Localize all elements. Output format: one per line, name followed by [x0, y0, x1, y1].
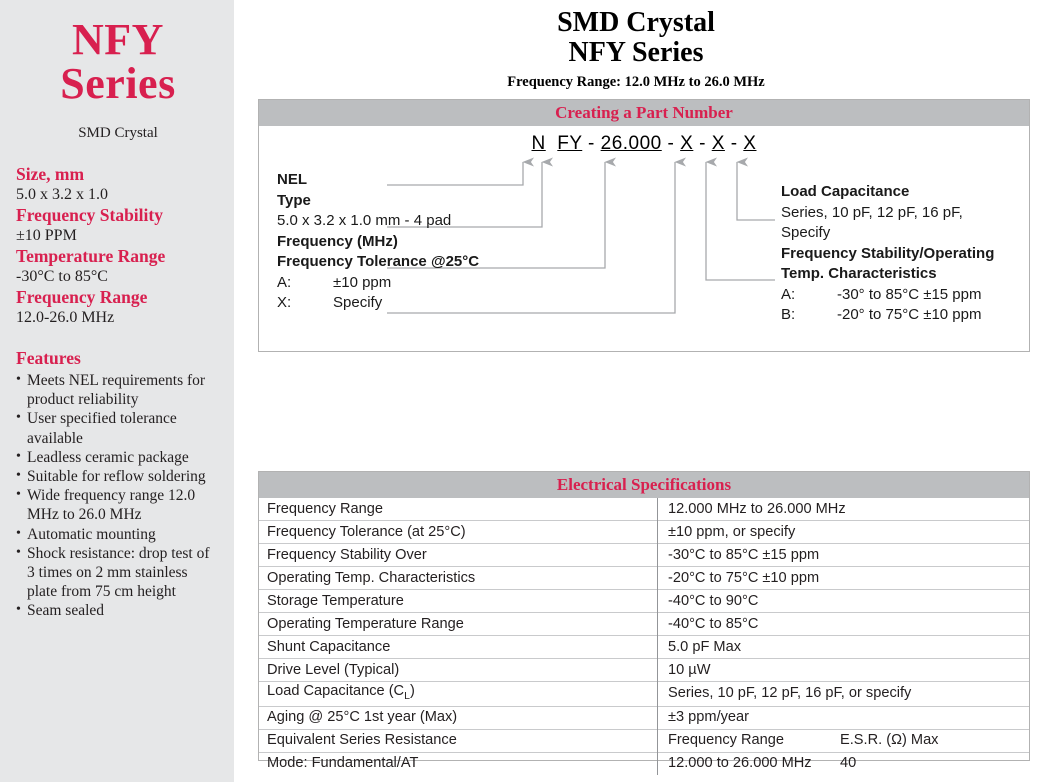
- table-row: Mode: Fundamental/AT 12.000 to 26.000 MH…: [259, 752, 1029, 775]
- spec-value-frequency-stability: ±10 PPM: [16, 226, 220, 246]
- pn-tolerance-x-value: Specify: [333, 294, 382, 311]
- spec-value: 5.0 pF Max: [658, 636, 1030, 659]
- features-list: Meets NEL requirements for product relia…: [16, 371, 220, 621]
- spec-value: Frequency RangeE.S.R. (Ω) Max: [658, 729, 1030, 752]
- pn-dash-4: -: [731, 133, 738, 154]
- leader-load-capacitance: [737, 162, 775, 220]
- list-item: Leadless ceramic package: [16, 448, 220, 467]
- pn-label-stability-1: Frequency Stability/Operating: [781, 244, 1031, 265]
- pn-tolerance-option-a: A:±10 ppm: [277, 273, 607, 294]
- spec-value: -20°C to 75°C ±10 ppm: [658, 567, 1030, 590]
- part-number-left-labels: NEL Type 5.0 x 3.2 x 1.0 mm - 4 pad Freq…: [277, 170, 607, 314]
- table-row: Aging @ 25°C 1st year (Max) ±3 ppm/year: [259, 706, 1029, 729]
- pn-dash-2: -: [668, 133, 675, 154]
- pn-segment-load-cap: X: [743, 133, 756, 154]
- esr-range-b: 40: [840, 755, 856, 771]
- part-number-right-labels: Load Capacitance Series, 10 pF, 12 pF, 1…: [781, 182, 1031, 326]
- pn-tolerance-a-value: ±10 ppm: [333, 274, 391, 291]
- spec-value: 12.000 MHz to 26.000 MHz: [658, 498, 1030, 521]
- spec-param: Frequency Range: [259, 498, 658, 521]
- table-row: Load Capacitance (CL) Series, 10 pF, 12 …: [259, 682, 1029, 707]
- main-content: SMD Crystal NFY Series Frequency Range: …: [234, 0, 1038, 782]
- spec-head-size: Size, mm: [16, 164, 220, 185]
- table-row: Frequency Stability Over -30°C to 85°C ±…: [259, 544, 1029, 567]
- series-title: NFY Series: [16, 18, 220, 106]
- pn-segment-n: N: [532, 133, 546, 154]
- list-item: Shock resistance: drop test of 3 times o…: [16, 544, 220, 602]
- list-item: Meets NEL requirements for product relia…: [16, 371, 220, 409]
- sidebar-spec-list: Size, mm 5.0 x 3.2 x 1.0 Frequency Stabi…: [16, 164, 220, 328]
- spec-param: Aging @ 25°C 1st year (Max): [259, 706, 658, 729]
- spec-value-frequency-range: 12.0-26.0 MHz: [16, 308, 220, 328]
- pn-tolerance-option-x: X:Specify: [277, 293, 607, 314]
- sidebar: NFY Series SMD Crystal Size, mm 5.0 x 3.…: [0, 0, 234, 782]
- spec-value: -30°C to 85°C ±15 ppm: [658, 544, 1030, 567]
- table-row: Frequency Tolerance (at 25°C) ±10 ppm, o…: [259, 521, 1029, 544]
- page-title-line1: SMD Crystal: [557, 7, 715, 38]
- spec-param: Frequency Tolerance (at 25°C): [259, 521, 658, 544]
- leader-stability: [706, 162, 775, 280]
- table-row: Operating Temp. Characteristics -20°C to…: [259, 567, 1029, 590]
- page-frequency-range: Frequency Range: 12.0 MHz to 26.0 MHz: [234, 74, 1038, 91]
- spec-param: Storage Temperature: [259, 590, 658, 613]
- table-row: Storage Temperature -40°C to 90°C: [259, 590, 1029, 613]
- electrical-panel-title: Electrical Specifications: [259, 472, 1029, 498]
- series-title-line2: Series: [16, 62, 220, 106]
- pn-value-type: 5.0 x 3.2 x 1.0 mm - 4 pad: [277, 211, 607, 232]
- spec-value-size: 5.0 x 3.2 x 1.0: [16, 185, 220, 205]
- pn-value-load-capacitance-1: Series, 10 pF, 12 pF, 16 pF,: [781, 203, 1031, 224]
- spec-head-temperature-range: Temperature Range: [16, 246, 220, 267]
- part-number-string: N FY - 26.000 - X - X - X: [259, 133, 1029, 155]
- spec-value: -40°C to 90°C: [658, 590, 1030, 613]
- table-row: Shunt Capacitance 5.0 pF Max: [259, 636, 1029, 659]
- pn-stability-a-value: -30° to 85°C ±15 ppm: [837, 286, 981, 303]
- table-row: Frequency Range 12.000 MHz to 26.000 MHz: [259, 498, 1029, 521]
- pn-tolerance-x-code: X:: [277, 293, 333, 314]
- spec-value: ±10 ppm, or specify: [658, 521, 1030, 544]
- part-number-panel: Creating a Part Number N FY - 26.000 - X…: [258, 99, 1030, 352]
- pn-value-load-capacitance-2: Specify: [781, 223, 1031, 244]
- sidebar-subtitle: SMD Crystal: [16, 125, 220, 142]
- spec-value: ±3 ppm/year: [658, 706, 1030, 729]
- list-item: Wide frequency range 12.0 MHz to 26.0 MH…: [16, 486, 220, 524]
- esr-value-a: Frequency Range: [668, 732, 840, 749]
- spec-value: 10 µW: [658, 659, 1030, 682]
- pn-segment-tolerance: X: [680, 133, 693, 154]
- pn-label-type: Type: [277, 191, 607, 212]
- spec-param: Shunt Capacitance: [259, 636, 658, 659]
- pn-segment-stability: X: [712, 133, 725, 154]
- spec-param: Load Capacitance (CL): [259, 682, 658, 707]
- pn-label-stability-2: Temp. Characteristics: [781, 264, 1031, 285]
- esr-range-a: 12.000 to 26.000 MHz: [668, 755, 840, 772]
- spec-value: 12.000 to 26.000 MHz40: [658, 752, 1030, 775]
- pn-dash-1: -: [588, 133, 595, 154]
- table-row: Operating Temperature Range -40°C to 85°…: [259, 613, 1029, 636]
- table-row: Drive Level (Typical) 10 µW: [259, 659, 1029, 682]
- pn-segment-fy: FY: [557, 133, 582, 154]
- features-heading: Features: [16, 348, 220, 369]
- pn-dash-3: -: [699, 133, 706, 154]
- list-item: Seam sealed: [16, 601, 220, 620]
- pn-label-frequency: Frequency (MHz): [277, 232, 607, 253]
- spec-param: Operating Temperature Range: [259, 613, 658, 636]
- table-row: Equivalent Series Resistance Frequency R…: [259, 729, 1029, 752]
- spec-param: Equivalent Series Resistance: [259, 729, 658, 752]
- electrical-specifications-table: Frequency Range 12.000 MHz to 26.000 MHz…: [259, 498, 1029, 775]
- series-title-line1: NFY: [72, 15, 164, 64]
- pn-stability-a-code: A:: [781, 285, 837, 306]
- pn-stability-option-a: A:-30° to 85°C ±15 ppm: [781, 285, 1031, 306]
- spec-head-frequency-stability: Frequency Stability: [16, 205, 220, 226]
- part-number-panel-title: Creating a Part Number: [259, 100, 1029, 126]
- spec-head-frequency-range: Frequency Range: [16, 287, 220, 308]
- spec-param: Operating Temp. Characteristics: [259, 567, 658, 590]
- list-item: Suitable for reflow soldering: [16, 467, 220, 486]
- list-item: Automatic mounting: [16, 525, 220, 544]
- pn-label-nel: NEL: [277, 170, 607, 191]
- spec-param: Frequency Stability Over: [259, 544, 658, 567]
- spec-value: Series, 10 pF, 12 pF, 16 pF, or specify: [658, 682, 1030, 707]
- pn-segment-frequency: 26.000: [601, 133, 662, 154]
- pn-tolerance-a-code: A:: [277, 273, 333, 294]
- spec-param: Drive Level (Typical): [259, 659, 658, 682]
- page-title-line2: NFY Series: [234, 38, 1038, 68]
- pn-label-load-capacitance: Load Capacitance: [781, 182, 1031, 203]
- pn-stability-b-code: B:: [781, 305, 837, 326]
- esr-value-b: E.S.R. (Ω) Max: [840, 732, 938, 748]
- spec-value: -40°C to 85°C: [658, 613, 1030, 636]
- electrical-specifications-panel: Electrical Specifications Frequency Rang…: [258, 471, 1030, 761]
- pn-stability-option-b: B:-20° to 75°C ±10 ppm: [781, 305, 1031, 326]
- spec-value-temperature-range: -30°C to 85°C: [16, 267, 220, 287]
- pn-label-tolerance: Frequency Tolerance @25°C: [277, 252, 607, 273]
- spec-param: Mode: Fundamental/AT: [259, 752, 658, 775]
- page-title: SMD Crystal NFY Series: [234, 0, 1038, 68]
- pn-stability-b-value: -20° to 75°C ±10 ppm: [837, 306, 981, 323]
- list-item: User specified tolerance available: [16, 409, 220, 447]
